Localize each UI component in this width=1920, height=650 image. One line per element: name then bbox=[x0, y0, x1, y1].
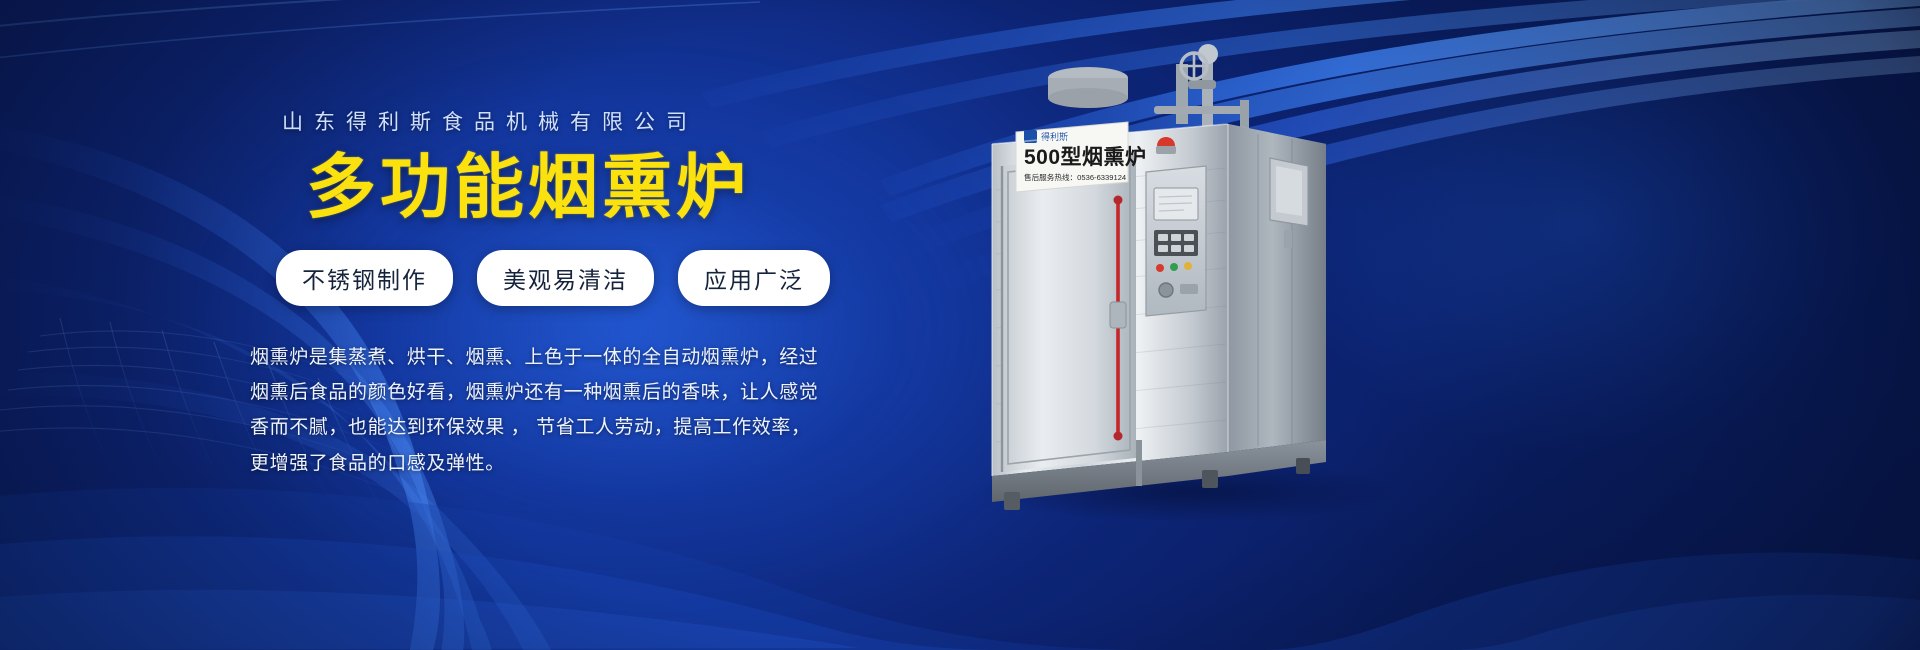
control-panel bbox=[1146, 166, 1206, 316]
panel-switch bbox=[1180, 284, 1198, 294]
drain-pipe bbox=[1136, 440, 1142, 486]
feature-badge-easy-clean: 美观易清洁 bbox=[477, 250, 654, 306]
banner-headline: 多功能烟熏炉 bbox=[306, 150, 846, 224]
brand-name-text: 得利斯 bbox=[1041, 131, 1068, 142]
feature-badge-list: 不锈钢制作 美观易清洁 应用广泛 bbox=[276, 250, 846, 306]
roof-pipework bbox=[1048, 44, 1249, 130]
product-description: 烟熏炉是集蒸煮、烘干、烟熏、上色于一体的全自动烟熏炉，经过烟熏后食品的颜色好看，… bbox=[250, 340, 820, 481]
handle-top-cap bbox=[1114, 196, 1123, 205]
handle-bottom-cap bbox=[1114, 432, 1123, 441]
banner-text-block: 山东得利斯食品机械有限公司 多功能烟熏炉 不锈钢制作 美观易清洁 应用广泛 烟熏… bbox=[246, 106, 846, 481]
machine-foot-right bbox=[1202, 470, 1218, 488]
door-latch bbox=[1110, 302, 1126, 328]
indicator-light-amber bbox=[1184, 262, 1192, 270]
company-name: 山东得利斯食品机械有限公司 bbox=[282, 106, 846, 136]
panel-knob bbox=[1159, 283, 1173, 297]
promo-banner: 山东得利斯食品机械有限公司 多功能烟熏炉 不锈钢制作 美观易清洁 应用广泛 烟熏… bbox=[0, 0, 1920, 650]
indicator-light-red bbox=[1156, 264, 1164, 272]
junction-conduit bbox=[1284, 230, 1292, 248]
feature-badge-stainless: 不锈钢制作 bbox=[276, 250, 453, 306]
machine-model-text: 500型烟熏炉 bbox=[1024, 145, 1147, 169]
feature-badge-wide-use: 应用广泛 bbox=[678, 250, 830, 306]
indicator-light-green bbox=[1170, 263, 1178, 271]
machine-foot-rear bbox=[1296, 458, 1310, 474]
smokehouse-oven-photo: 得利斯 500型烟熏炉 售后服务热线：0536-6339124 bbox=[940, 40, 1500, 540]
panel-keypad bbox=[1154, 230, 1198, 256]
machine-hotline-text: 售后服务热线：0536-6339124 bbox=[1024, 172, 1126, 182]
machine-foot-left bbox=[1004, 492, 1020, 510]
